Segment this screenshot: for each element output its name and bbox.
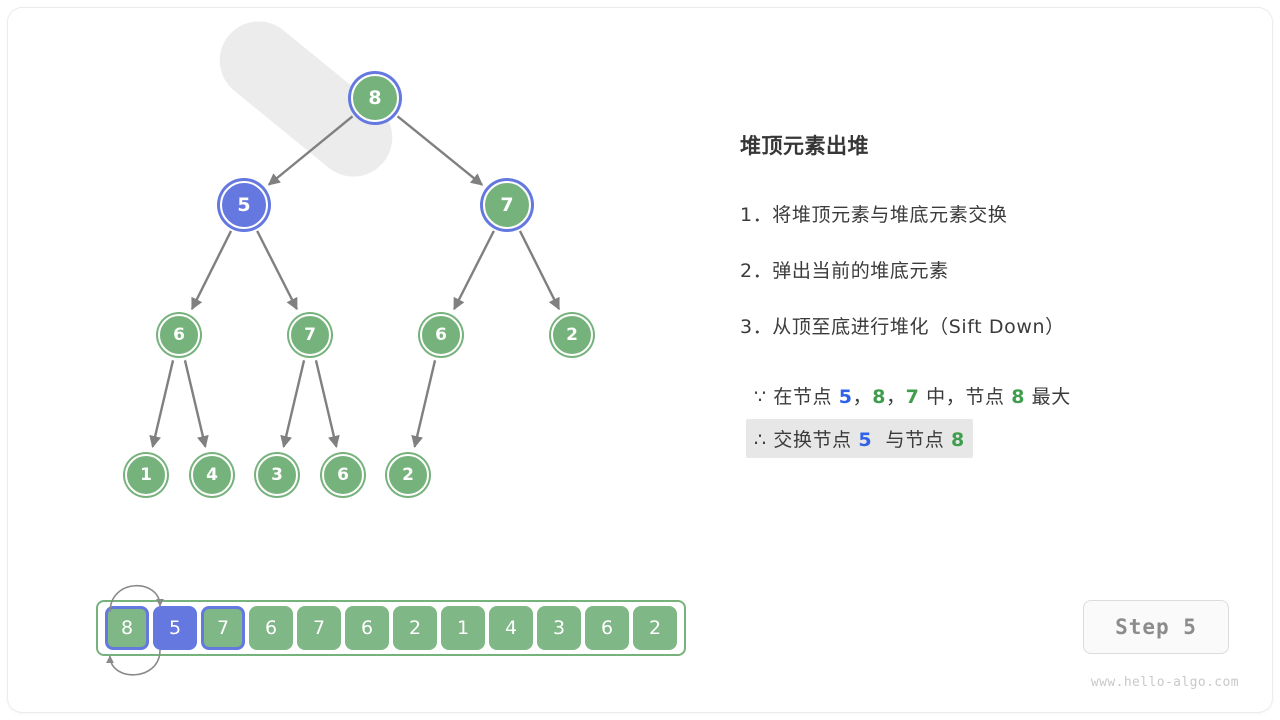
instruction-step-2: 2．弹出当前的堆底元素 [740,256,1240,283]
premise-max-value: 8 [1011,386,1025,408]
array-cell: 6 [249,606,293,650]
tree-node: 6 [158,314,200,356]
heap-array-visualization: 857676214362 [88,570,708,690]
tree-edge [284,360,304,446]
tree-node: 2 [551,314,593,356]
premise-value-1: 8 [872,386,886,408]
tree-edge [398,116,483,185]
premise-middle: 中，节点 [926,386,1004,408]
tree-node: 6 [322,454,364,496]
tree-edge [269,116,353,184]
step-badge: Step 5 [1083,600,1229,654]
because-symbol: ∵ [754,386,767,408]
watermark: www.hello-algo.com [1073,675,1239,690]
conclusion-value-a: 5 [858,429,872,451]
tree-edge [415,360,435,446]
conclusion-value-b: 8 [951,429,965,451]
binary-heap-tree: 857676214362 [0,0,700,560]
therefore-symbol: ∴ [754,429,767,451]
array-cell: 7 [297,606,341,650]
tree-edge [153,360,173,446]
conclusion-prefix: 交换节点 [773,429,851,451]
conclusion-middle: 与节点 [886,429,945,451]
page-title: 堆顶元素出堆 [740,130,1240,160]
array-cell: 5 [153,606,197,650]
tree-edge [520,231,559,309]
array-cell: 7 [201,606,245,650]
tree-node: 4 [191,454,233,496]
array-cell: 6 [585,606,629,650]
array-cell: 1 [441,606,485,650]
array-cell: 2 [633,606,677,650]
premise-value-2: 7 [906,386,920,408]
tree-node: 8 [351,74,399,122]
instruction-step-1: 1．将堆顶元素与堆底元素交换 [740,200,1240,227]
tree-edge [454,231,494,309]
tree-node: 6 [420,314,462,356]
instruction-step-3: 3．从顶至底进行堆化（Sift Down） [740,312,1240,339]
tree-edge [192,231,231,309]
array-cell: 2 [393,606,437,650]
tree-node: 5 [220,181,268,229]
tree-node: 1 [125,454,167,496]
array-cell: 8 [105,606,149,650]
conclusion-line: ∴ 交换节点 5 与节点 8 [746,419,973,458]
explanation-panel: 堆顶元素出堆 1．将堆顶元素与堆底元素交换 2．弹出当前的堆底元素 3．从顶至底… [740,130,1240,458]
tree-edge [316,360,336,446]
tree-node: 2 [387,454,429,496]
tree-edge [257,231,297,309]
figure-canvas: 857676214362 堆顶元素出堆 1．将堆顶元素与堆底元素交换 2．弹出当… [0,0,1280,720]
premise-line: ∵ 在节点 5，8，7 中，节点 8 最大 [746,376,1079,415]
array-cell: 4 [489,606,533,650]
tree-edge [185,360,205,446]
tree-node: 7 [483,181,531,229]
array-cell: 6 [345,606,389,650]
premise-suffix: 最大 [1032,386,1071,408]
premise-prefix: 在节点 [773,386,832,408]
tree-node: 7 [289,314,331,356]
tree-node: 3 [256,454,298,496]
array-container: 857676214362 [96,600,686,656]
premise-value-0: 5 [839,386,853,408]
array-cell: 3 [537,606,581,650]
